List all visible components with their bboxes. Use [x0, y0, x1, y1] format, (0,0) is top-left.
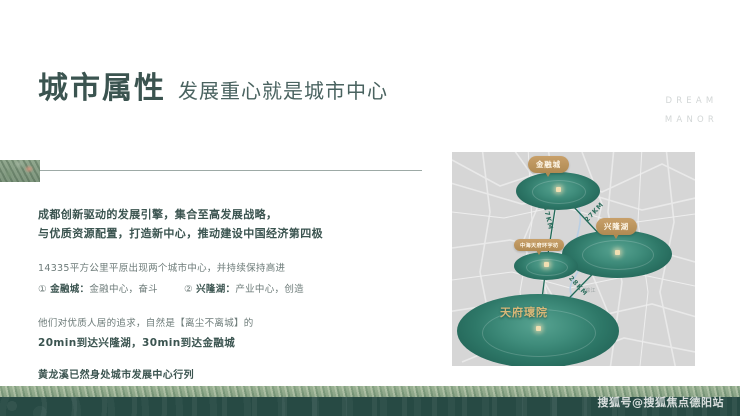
lead-paragraph: 成都创新驱动的发展引擎，集合至高发展战略， 与优质资源配置，打造新中心，推动建设… — [38, 205, 398, 243]
title-main: 城市属性 — [38, 74, 166, 104]
list-item: ① 金融城：金融中心，奋斗 — [38, 280, 158, 299]
map-label-xinglonghu[interactable]: 兴隆湖 — [596, 218, 637, 235]
closing-line: 黄龙溪已然身处城市发展中心行列 — [38, 366, 398, 381]
list-marker: ① — [38, 284, 47, 295]
list-item-name: 金融城： — [50, 284, 89, 295]
body-copy: 成都创新驱动的发展引擎，集合至高发展战略， 与优质资源配置，打造新中心，推动建设… — [38, 205, 398, 381]
map-label-jinrongcheng[interactable]: 金融城 — [528, 156, 569, 173]
map-river-label: 锦江 — [585, 287, 596, 294]
brand-line-1: DREAM — [665, 92, 718, 111]
list-item-name: 兴隆湖： — [196, 284, 235, 295]
list-item: ② 兴隆湖：产业中心，创造 — [184, 280, 304, 299]
slide-canvas: 城市属性 发展重心就是城市中心 DREAM MANOR 成都创新驱动的发展引擎，… — [0, 0, 740, 416]
watermark-text: 搜狐号@搜狐焦点德阳站 — [598, 394, 725, 410]
page-title: 城市属性 发展重心就是城市中心 — [38, 74, 388, 104]
highlight-line: 20min到达兴隆湖，30min到达金融城 — [38, 333, 398, 353]
enumerated-list: ① 金融城：金融中心，奋斗 ② 兴隆湖：产业中心，创造 — [38, 280, 398, 299]
brand-line-2: MANOR — [665, 111, 718, 130]
decorative-swatch — [0, 160, 40, 182]
map-ring-zhonghai — [526, 259, 568, 276]
list-item-text: 产业中心，创造 — [235, 284, 304, 295]
map-ring-xinglonghu — [582, 240, 654, 270]
lead-line-2: 与优质资源配置，打造新中心，推动建设中国经济第四极 — [38, 224, 398, 243]
footer-band: 搜狐号@搜狐焦点德阳站 — [0, 386, 740, 416]
paragraph-two: 他们对优质人居的追求，自然是【离尘不离城】的 — [38, 314, 398, 333]
brand-mark: DREAM MANOR — [665, 92, 718, 130]
title-subtitle: 发展重心就是城市中心 — [178, 81, 388, 101]
list-item-text: 金融中心，奋斗 — [89, 284, 158, 295]
list-marker: ② — [184, 284, 193, 295]
paragraph-one: 14335平方公里平原出现两个城市中心，并持续保持高进 — [38, 259, 398, 278]
map-label-zhonghai[interactable]: 中海天府环宇坊 — [514, 239, 564, 251]
lead-line-1: 成都创新驱动的发展引擎，集合至高发展战略， — [38, 205, 398, 224]
divider-line — [40, 170, 422, 171]
location-map: 金融城 兴隆湖 中海天府环宇坊 天府瓌院 37KM 27KM 28KM 锦江 — [452, 152, 695, 366]
map-ring-jinrongcheng — [532, 180, 586, 204]
map-label-tianfu[interactable]: 天府瓌院 — [500, 304, 548, 320]
